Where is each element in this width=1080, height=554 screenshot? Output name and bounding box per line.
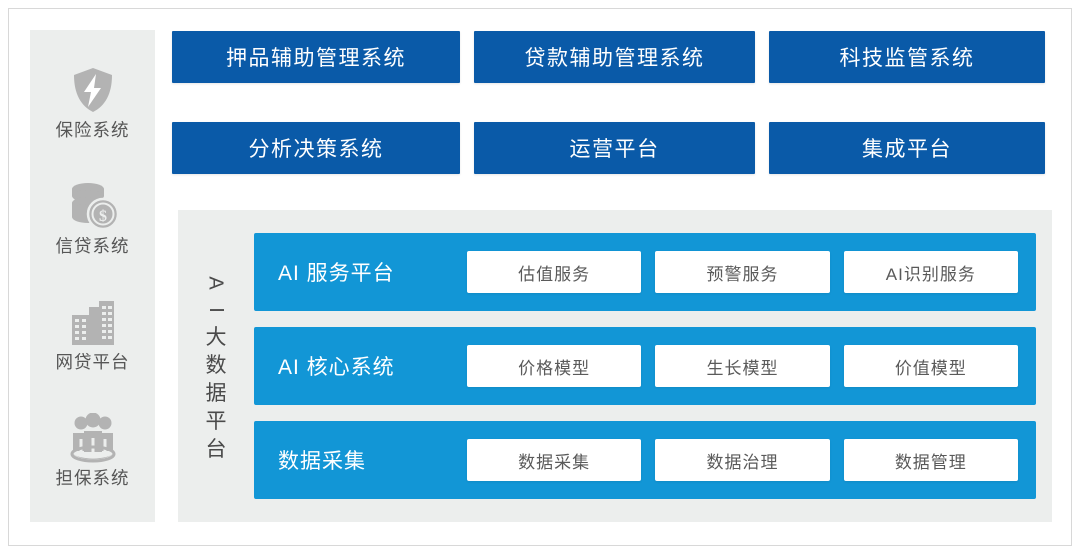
chip-growth-model[interactable]: 生长模型: [655, 345, 829, 387]
vertical-title-char: 平: [206, 411, 227, 432]
chip-ai-recognition-service[interactable]: AI识别服务: [844, 251, 1018, 293]
vertical-title-char: 大: [206, 327, 227, 348]
sidebar-item-label: 担保系统: [56, 468, 130, 489]
sidebar-item-label: 网贷平台: [56, 352, 130, 373]
chip-value-model[interactable]: 价值模型: [844, 345, 1018, 387]
platform-layer-ai-core: AI 核心系统 价格模型 生长模型 价值模型: [254, 327, 1036, 405]
chip-alert-service[interactable]: 预警服务: [655, 251, 829, 293]
platform-layer-ai-service: AI 服务平台 估值服务 预警服务 AI识别服务: [254, 233, 1036, 311]
platform-vertical-title: A I 大 数 据 平 台: [178, 210, 254, 522]
sidebar-item-guarantee[interactable]: 担保系统: [30, 392, 155, 508]
ai-bigdata-platform-panel: A I 大 数 据 平 台 AI 服务平台 估值服务 预警服务 AI识别服务 A…: [178, 210, 1052, 522]
sidebar-item-label: 保险系统: [56, 120, 130, 141]
system-box-pledge-aux-management[interactable]: 押品辅助管理系统: [172, 31, 460, 83]
sidebar-item-insurance[interactable]: 保险系统: [30, 44, 155, 160]
vertical-title-char: I: [206, 307, 226, 313]
layer-label: AI 服务平台: [278, 257, 453, 287]
platform-layer-data-collection: 数据采集 数据采集 数据治理 数据管理: [254, 421, 1036, 499]
system-box-integration-platform[interactable]: 集成平台: [769, 122, 1045, 174]
chip-price-model[interactable]: 价格模型: [467, 345, 641, 387]
shield-bolt-icon: [65, 64, 121, 116]
top-systems-row-1: 押品辅助管理系统 贷款辅助管理系统 科技监管系统: [172, 31, 1045, 83]
sidebar-item-credit[interactable]: $ 信贷系统: [30, 160, 155, 276]
vertical-title-char: A: [206, 276, 226, 289]
system-box-analysis-decision[interactable]: 分析决策系统: [172, 122, 460, 174]
layer-label: AI 核心系统: [278, 351, 453, 381]
top-systems-row-2: 分析决策系统 运营平台 集成平台: [172, 122, 1045, 174]
vertical-title-char: 台: [206, 439, 227, 460]
chip-valuation-service[interactable]: 估值服务: [467, 251, 641, 293]
people-group-icon: [65, 412, 121, 464]
chip-data-collection[interactable]: 数据采集: [467, 439, 641, 481]
system-box-operations-platform[interactable]: 运营平台: [474, 122, 755, 174]
buildings-icon: [65, 296, 121, 348]
system-box-loan-aux-management[interactable]: 贷款辅助管理系统: [474, 31, 755, 83]
sidebar-item-online-lending[interactable]: 网贷平台: [30, 276, 155, 392]
vertical-title-char: 数: [206, 355, 227, 376]
sidebar: 保险系统 $ 信贷系统: [30, 30, 155, 522]
layer-label: 数据采集: [278, 445, 453, 475]
vertical-title-char: 据: [206, 383, 227, 404]
svg-text:$: $: [99, 208, 107, 225]
sidebar-item-label: 信贷系统: [56, 236, 130, 257]
coins-dollar-icon: $: [65, 180, 121, 232]
chip-data-governance[interactable]: 数据治理: [655, 439, 829, 481]
chip-data-management[interactable]: 数据管理: [844, 439, 1018, 481]
diagram-canvas: 保险系统 $ 信贷系统: [0, 0, 1080, 554]
platform-layer-stack: AI 服务平台 估值服务 预警服务 AI识别服务 AI 核心系统 价格模型 生长…: [254, 210, 1052, 522]
system-box-tech-supervision[interactable]: 科技监管系统: [769, 31, 1045, 83]
